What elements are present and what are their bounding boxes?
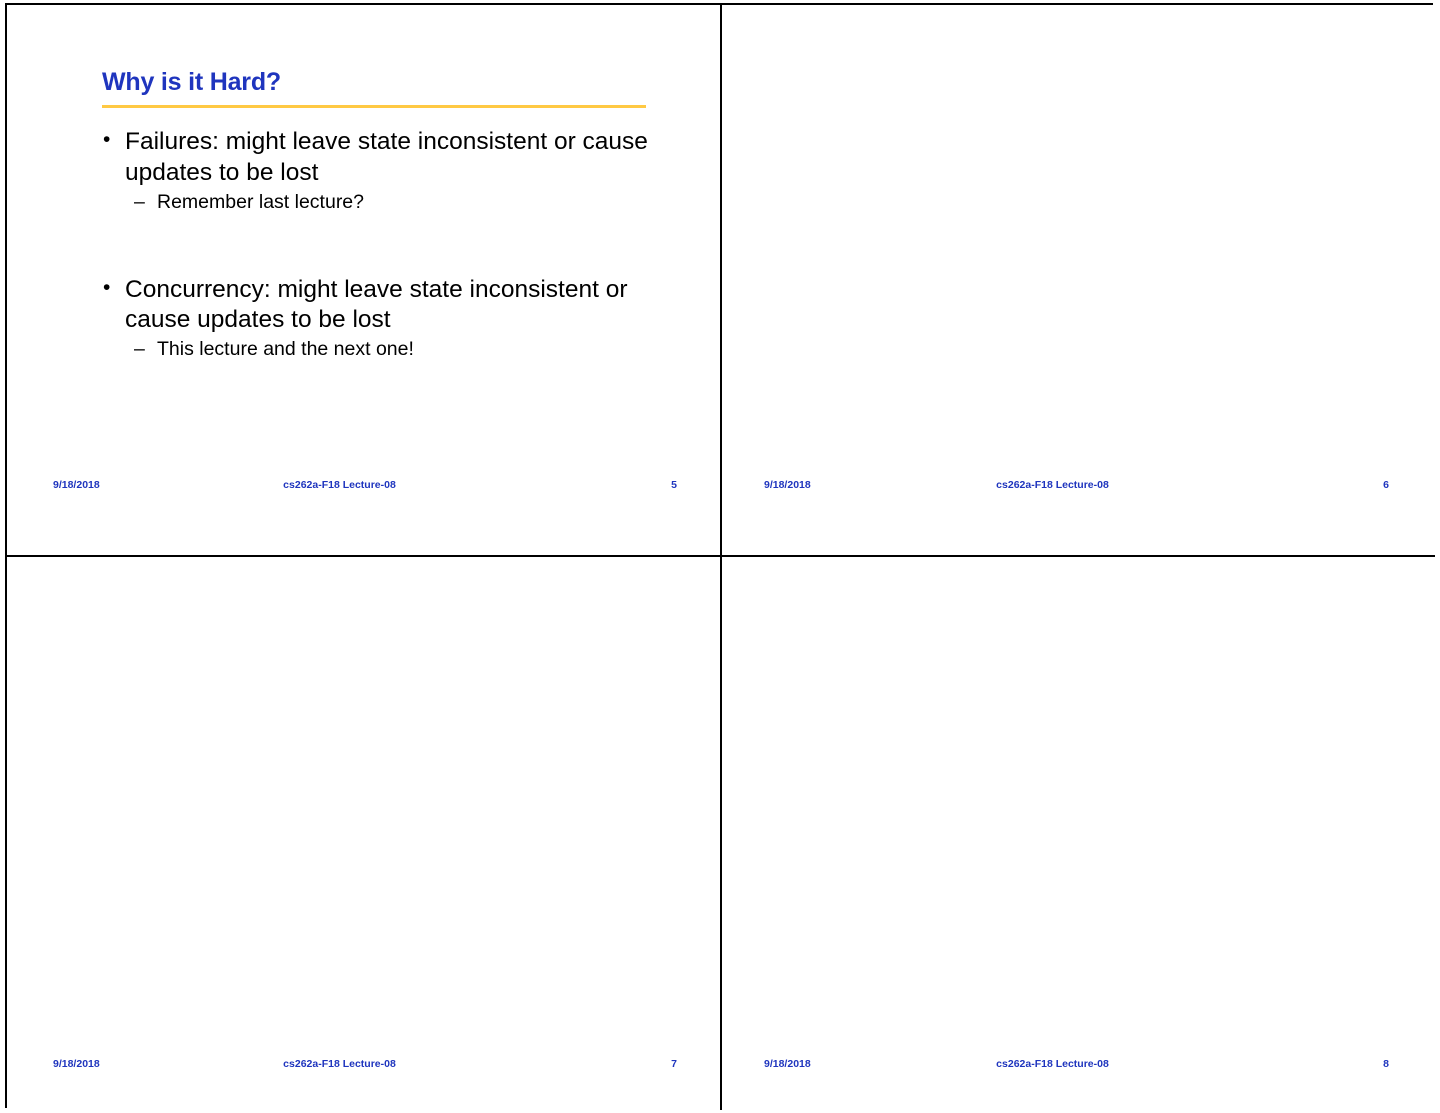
list-item: • Concurrency: might leave state inconsi… [99, 275, 672, 337]
list-item-label: Concurrency: might leave state inconsist… [125, 276, 628, 334]
list-item-label: Failures: might leave state inconsistent… [125, 128, 648, 186]
spacer [99, 217, 672, 275]
list-item: • Failures: might leave state inconsiste… [99, 127, 672, 189]
slide-grid: Why is it Hard? • Failures: might leave … [5, 3, 1433, 1108]
list-item: – Remember last lecture? [133, 191, 672, 215]
footer-course-label: cs262a-F18 Lecture-08 [722, 1058, 1435, 1070]
slide-panel-6[interactable]: Concurrency • When operations of concurr… [722, 5, 1435, 557]
footer-course-label: cs262a-F18 Lecture-08 [7, 479, 720, 491]
bullet-dot-icon: • [103, 274, 110, 303]
slide-footer-5: 9/18/2018 cs262a-F18 Lecture-08 5 [7, 479, 720, 509]
list-item: – This lecture and the next one! [133, 338, 672, 362]
footer-page-number: 7 [671, 1058, 677, 1070]
footer-page-number: 5 [671, 479, 677, 491]
page-title: Why is it Hard? [102, 69, 646, 95]
slide-panel-8[interactable]: Anomalies with Interleaved Execution • M… [722, 557, 1435, 1110]
slide-handout-page: Why is it Hard? • Failures: might leave … [0, 0, 1440, 1113]
footer-course-label: cs262a-F18 Lecture-08 [7, 1058, 720, 1070]
slide-panel-5[interactable]: Why is it Hard? • Failures: might leave … [7, 5, 722, 557]
footer-page-number: 8 [1383, 1058, 1389, 1070]
bullet-dash-icon: – [134, 191, 145, 215]
slide-body-5: • Failures: might leave state inconsiste… [99, 127, 672, 364]
title-underline-rule [102, 105, 646, 108]
bullet-dot-icon: • [103, 126, 110, 155]
slide-footer-7: 9/18/2018 cs262a-F18 Lecture-08 7 [7, 1058, 720, 1088]
bullet-dash-icon: – [134, 338, 145, 362]
list-item-label: This lecture and the next one! [157, 338, 414, 360]
footer-course-label: cs262a-F18 Lecture-08 [722, 479, 1435, 491]
slide-title-block-5: Why is it Hard? [102, 69, 646, 108]
footer-page-number: 6 [1383, 479, 1389, 491]
slide-footer-6: 9/18/2018 cs262a-F18 Lecture-08 6 [722, 479, 1435, 509]
bullet-list: • Failures: might leave state inconsiste… [99, 127, 672, 362]
slide-panel-7[interactable]: Transaction Scheduling • Why not run onl… [7, 557, 722, 1110]
list-item-label: Remember last lecture? [157, 191, 364, 213]
slide-footer-8: 9/18/2018 cs262a-F18 Lecture-08 8 [722, 1058, 1435, 1088]
